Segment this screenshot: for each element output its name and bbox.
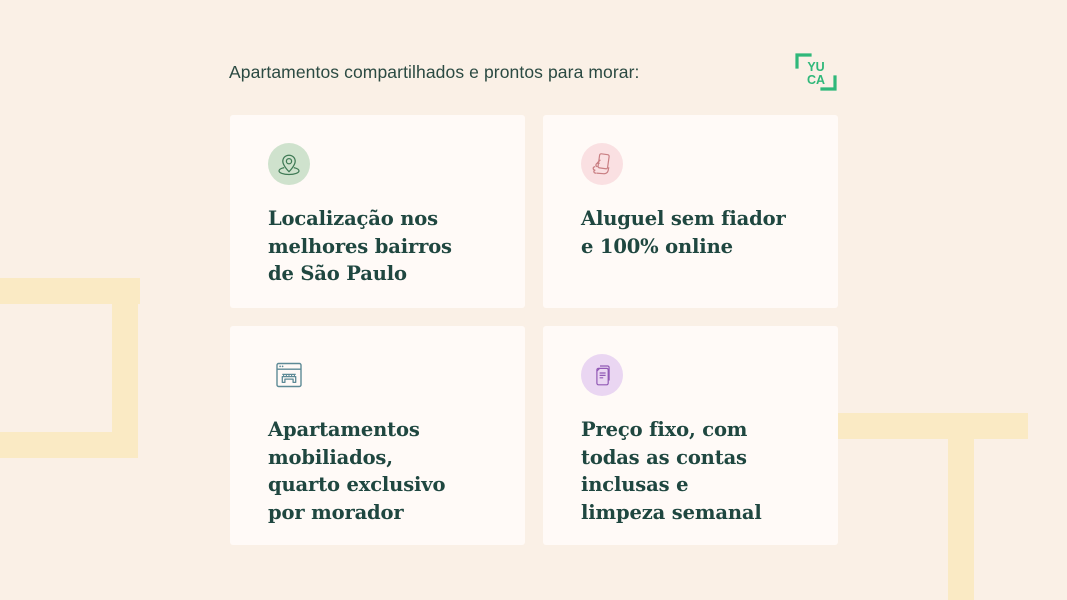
decor-bracket-left-top-arm <box>0 278 140 304</box>
feature-card-title: Localização nos melhores bairros de São … <box>268 205 491 288</box>
header: Apartamentos compartilhados e prontos pa… <box>229 52 839 92</box>
feature-card-grid: Localização nos melhores bairros de São … <box>230 115 838 545</box>
decor-bracket-left-bottom-arm <box>0 432 138 458</box>
feature-card-title: Preço fixo, com todas as contas inclusas… <box>581 416 804 527</box>
documents-icon <box>581 354 623 396</box>
page-title: Apartamentos compartilhados e prontos pa… <box>229 62 640 83</box>
feature-card-localizacao: Localização nos melhores bairros de São … <box>230 115 525 308</box>
hand-holding-phone-icon <box>581 143 623 185</box>
feature-card-title: Apartamentos mobiliados, quarto exclusiv… <box>268 416 491 527</box>
feature-card-mobiliados: Apartamentos mobiliados, quarto exclusiv… <box>230 326 525 545</box>
logo-line-top: YU <box>807 60 824 74</box>
decor-bracket-right-vertical <box>948 413 974 600</box>
logo-line-bottom: CA <box>807 73 825 87</box>
feature-card-preco-fixo: Preço fixo, com todas as contas inclusas… <box>543 326 838 545</box>
location-pin-icon <box>268 143 310 185</box>
decor-bracket-right-top-arm <box>838 413 1028 439</box>
feature-card-aluguel: Aluguel sem fiador e 100% online <box>543 115 838 308</box>
furnished-apartment-window-icon <box>268 354 310 396</box>
yuca-logo: YU CA <box>793 51 839 93</box>
decor-bracket-left-vertical <box>112 278 138 458</box>
feature-card-title: Aluguel sem fiador e 100% online <box>581 205 804 260</box>
